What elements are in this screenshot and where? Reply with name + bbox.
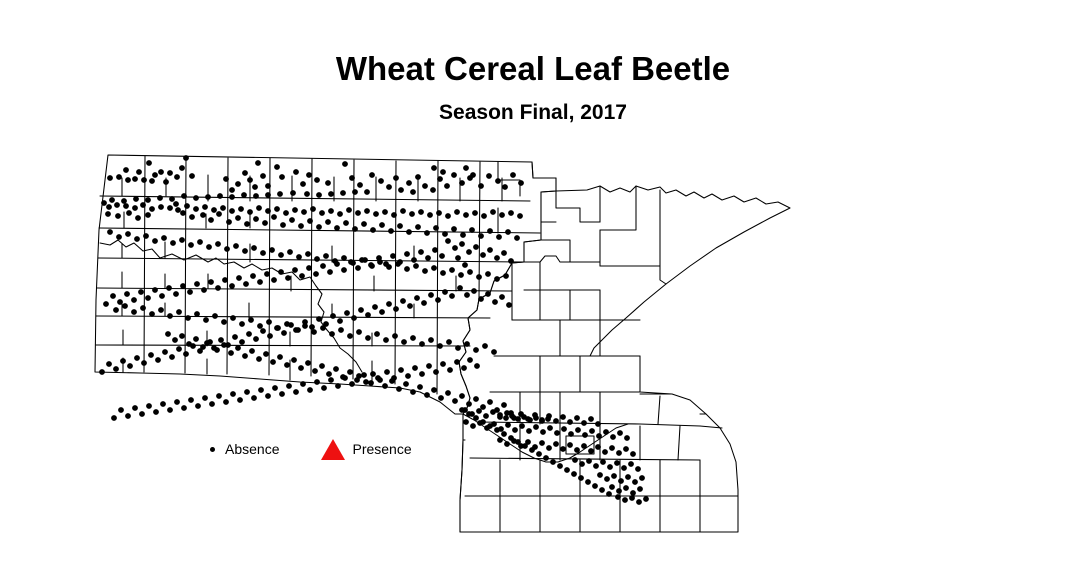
map-legend: Absence Presence [210,432,412,466]
dot-marker-icon [210,447,215,452]
triangle-marker-icon [321,439,345,460]
county-map [0,0,1066,587]
legend-label-presence: Presence [352,441,411,457]
map-plot-area [0,0,1066,587]
figure-canvas: Wheat Cereal Leaf Beetle Season Final, 2… [0,0,1066,587]
legend-item-presence[interactable]: Presence [321,439,411,460]
legend-item-absence[interactable]: Absence [210,441,279,457]
legend-label-absence: Absence [225,441,279,457]
state-county-boundaries [95,155,790,532]
